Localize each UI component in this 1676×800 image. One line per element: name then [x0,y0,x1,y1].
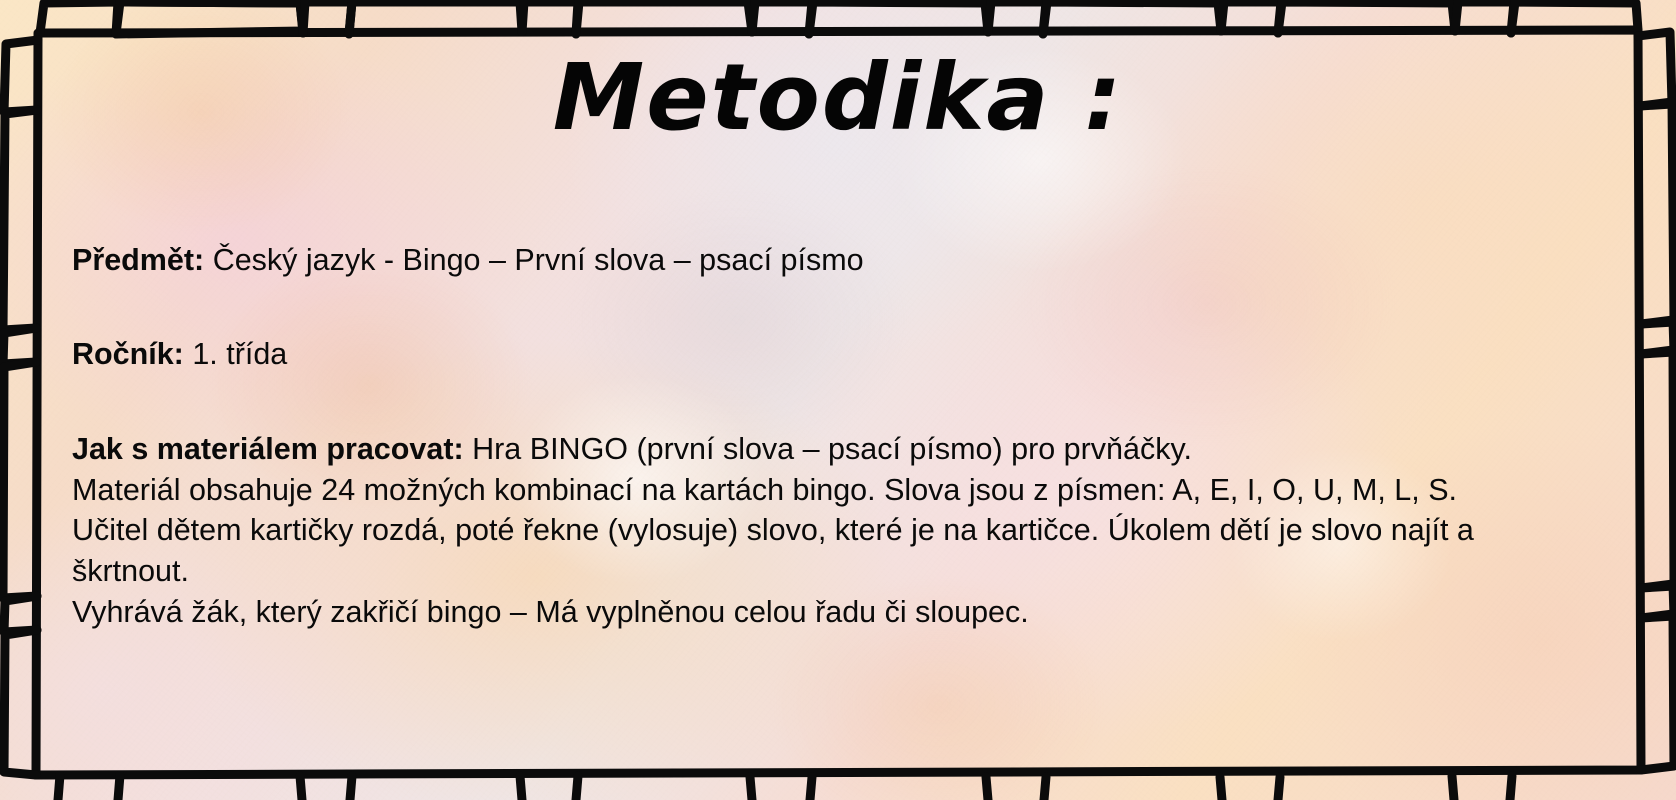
metodika-body: Předmět: Český jazyk - Bingo – První slo… [72,240,1517,633]
field-grade-label: Ročník: [72,337,184,371]
page-title: Metodika : [0,50,1676,147]
field-subject: Předmět: Český jazyk - Bingo – První slo… [72,240,1517,281]
field-howto-label: Jak s materiálem pracovat: [72,432,464,466]
field-grade: Ročník: 1. třída [72,334,1517,375]
field-subject-value: Český jazyk - Bingo – První slova – psac… [213,243,864,277]
field-grade-value: 1. třída [192,337,287,371]
slide-content: Metodika : Předmět: Český jazyk - Bingo … [0,0,1676,800]
field-howto-line-2: Učitel dětem kartičky rozdá, poté řekne … [72,510,1517,592]
field-subject-label: Předmět: [72,243,204,277]
field-howto: Jak s materiálem pracovat: Hra BINGO (pr… [72,429,1517,633]
field-howto-value: Hra BINGO (první slova – psací písmo) pr… [472,432,1192,466]
field-howto-intro: Jak s materiálem pracovat: Hra BINGO (pr… [72,429,1517,470]
field-howto-line-3: Vyhrává žák, který zakřičí bingo – Má vy… [72,592,1517,633]
field-howto-line-1: Materiál obsahuje 24 možných kombinací n… [72,470,1517,511]
slide-canvas: Metodika : Předmět: Český jazyk - Bingo … [0,0,1676,800]
